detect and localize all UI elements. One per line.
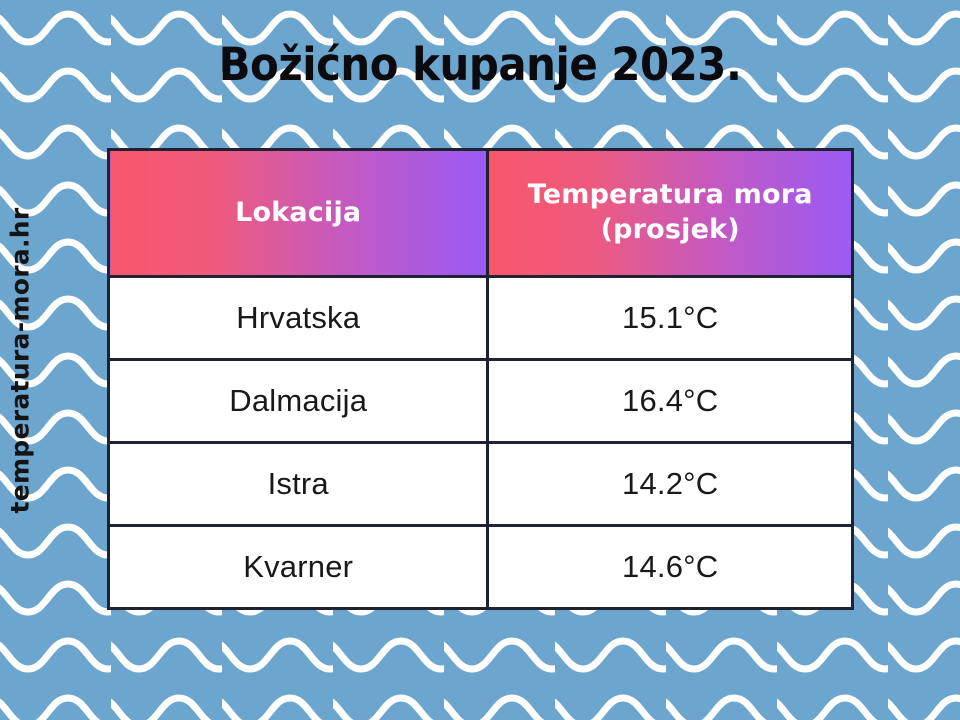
column-header-location-label: Lokacija (110, 196, 486, 231)
watermark-text: temperatura-mora.hr (6, 207, 35, 513)
cell-temperature: 15.1°C (488, 277, 853, 360)
column-header-location: Lokacija (109, 150, 488, 277)
table-row: Dalmacija 16.4°C (109, 360, 853, 443)
poster-canvas: temperatura-mora.hr Božićno kupanje 2023… (0, 0, 960, 720)
cell-location: Istra (109, 443, 488, 526)
table-header-row: Lokacija Temperatura mora (prosjek) (109, 150, 853, 277)
page-title: Božićno kupanje 2023. (34, 38, 927, 91)
table-header: Lokacija Temperatura mora (prosjek) (109, 150, 853, 277)
cell-location: Kvarner (109, 526, 488, 609)
cell-temperature: 14.2°C (488, 443, 853, 526)
temperature-table-wrapper: Lokacija Temperatura mora (prosjek) Hrva… (107, 148, 854, 592)
table-row: Kvarner 14.6°C (109, 526, 853, 609)
cell-location: Dalmacija (109, 360, 488, 443)
table-row: Hrvatska 15.1°C (109, 277, 853, 360)
site-watermark: temperatura-mora.hr (0, 0, 42, 720)
table-body: Hrvatska 15.1°C Dalmacija 16.4°C Istra 1… (109, 277, 853, 609)
cell-temperature: 14.6°C (488, 526, 853, 609)
cell-location: Hrvatska (109, 277, 488, 360)
column-header-temperature: Temperatura mora (prosjek) (488, 150, 853, 277)
temperature-table: Lokacija Temperatura mora (prosjek) Hrva… (107, 148, 854, 610)
cell-temperature: 16.4°C (488, 360, 853, 443)
column-header-temperature-line1: Temperatura mora (489, 178, 851, 213)
column-header-temperature-line2: (prosjek) (489, 213, 851, 248)
table-row: Istra 14.2°C (109, 443, 853, 526)
